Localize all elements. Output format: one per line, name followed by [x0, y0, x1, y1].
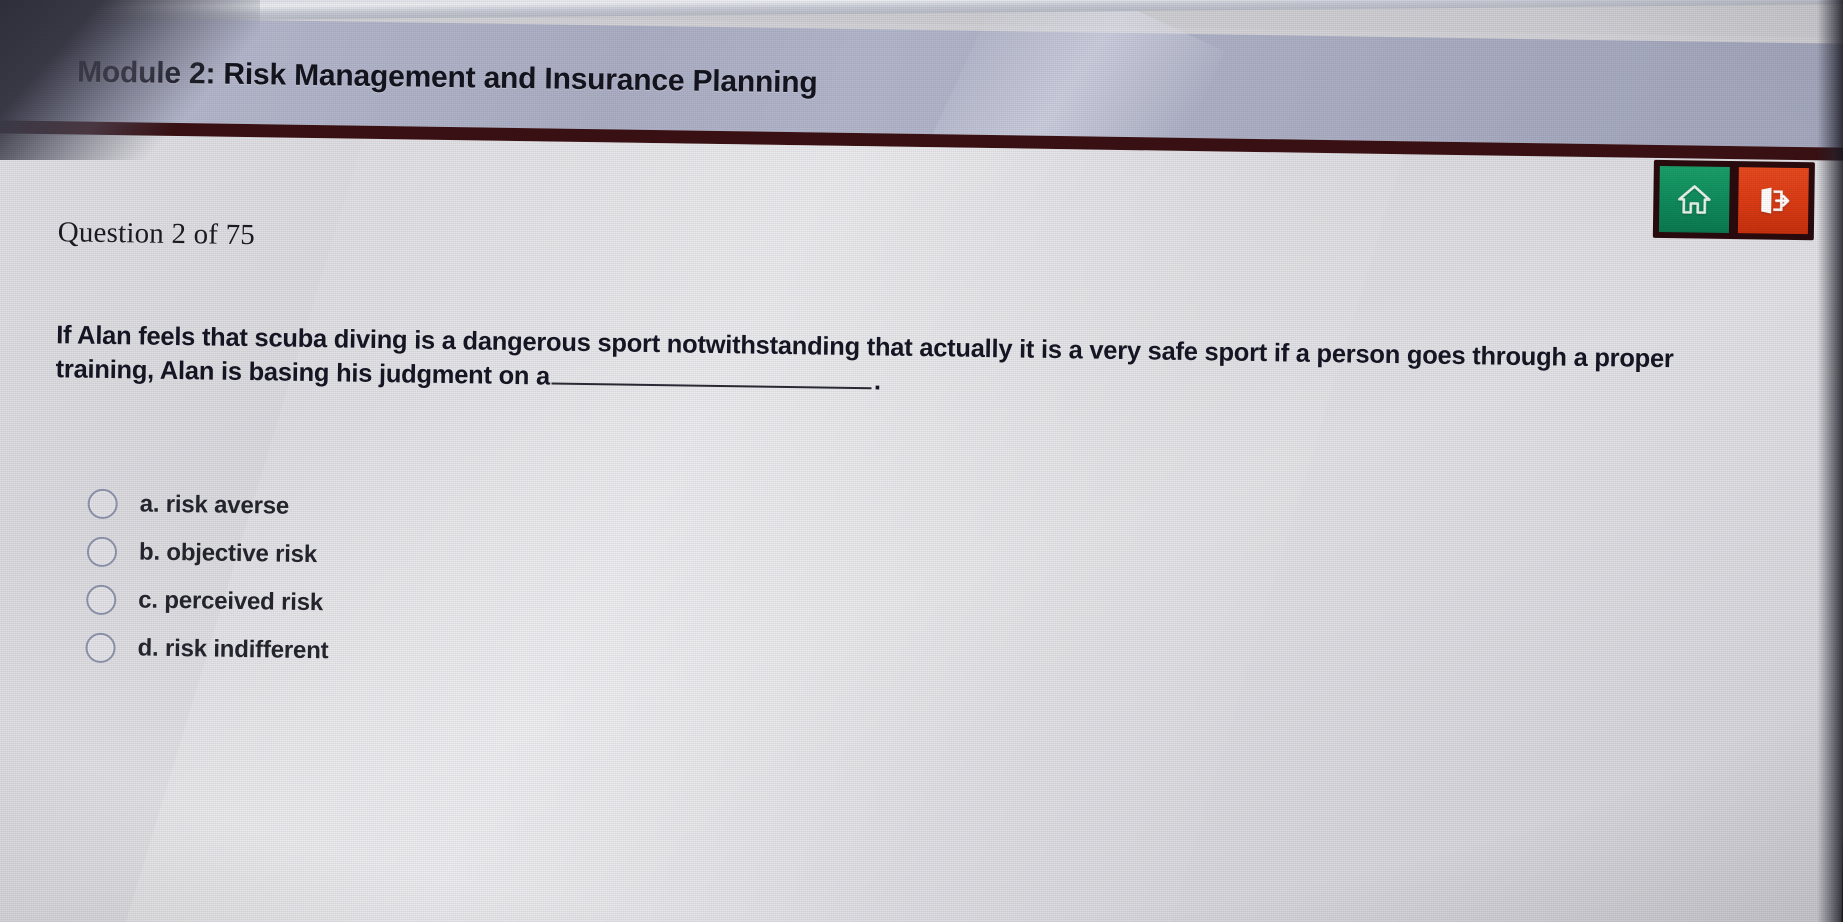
- option-d[interactable]: d. risk indifferent: [85, 624, 786, 682]
- screen-photo: Module 2: Risk Management and Insurance …: [0, 0, 1843, 922]
- option-label: d. risk indifferent: [137, 634, 328, 665]
- question-stem-tail: .: [874, 367, 881, 395]
- monitor-bezel: [0, 0, 1843, 22]
- monitor-screen: Module 2: Risk Management and Insurance …: [0, 10, 1843, 922]
- content-panel-frame: Question 2 of 75 If Alan feels that scub…: [0, 120, 1843, 922]
- option-label: c. perceived risk: [138, 586, 323, 617]
- exit-button[interactable]: [1738, 167, 1809, 234]
- answer-blank: [552, 362, 872, 389]
- radio-icon[interactable]: [87, 537, 117, 567]
- option-label: a. risk averse: [139, 490, 289, 520]
- radio-icon[interactable]: [86, 585, 116, 615]
- home-icon: [1677, 183, 1711, 216]
- page-title: Module 2: Risk Management and Insurance …: [77, 55, 818, 100]
- radio-icon[interactable]: [87, 489, 117, 519]
- toolbar: [1653, 160, 1815, 240]
- radio-icon[interactable]: [85, 633, 115, 663]
- question-stem: If Alan feels that scuba diving is a dan…: [55, 319, 1756, 412]
- home-button[interactable]: [1659, 166, 1730, 233]
- question-progress: Question 2 of 75: [57, 216, 255, 252]
- content-panel: Question 2 of 75 If Alan feels that scub…: [0, 133, 1843, 922]
- exit-icon: [1756, 184, 1790, 217]
- answer-options: a. risk averse b. objective risk c. perc…: [85, 480, 788, 682]
- option-label: b. objective risk: [139, 538, 317, 569]
